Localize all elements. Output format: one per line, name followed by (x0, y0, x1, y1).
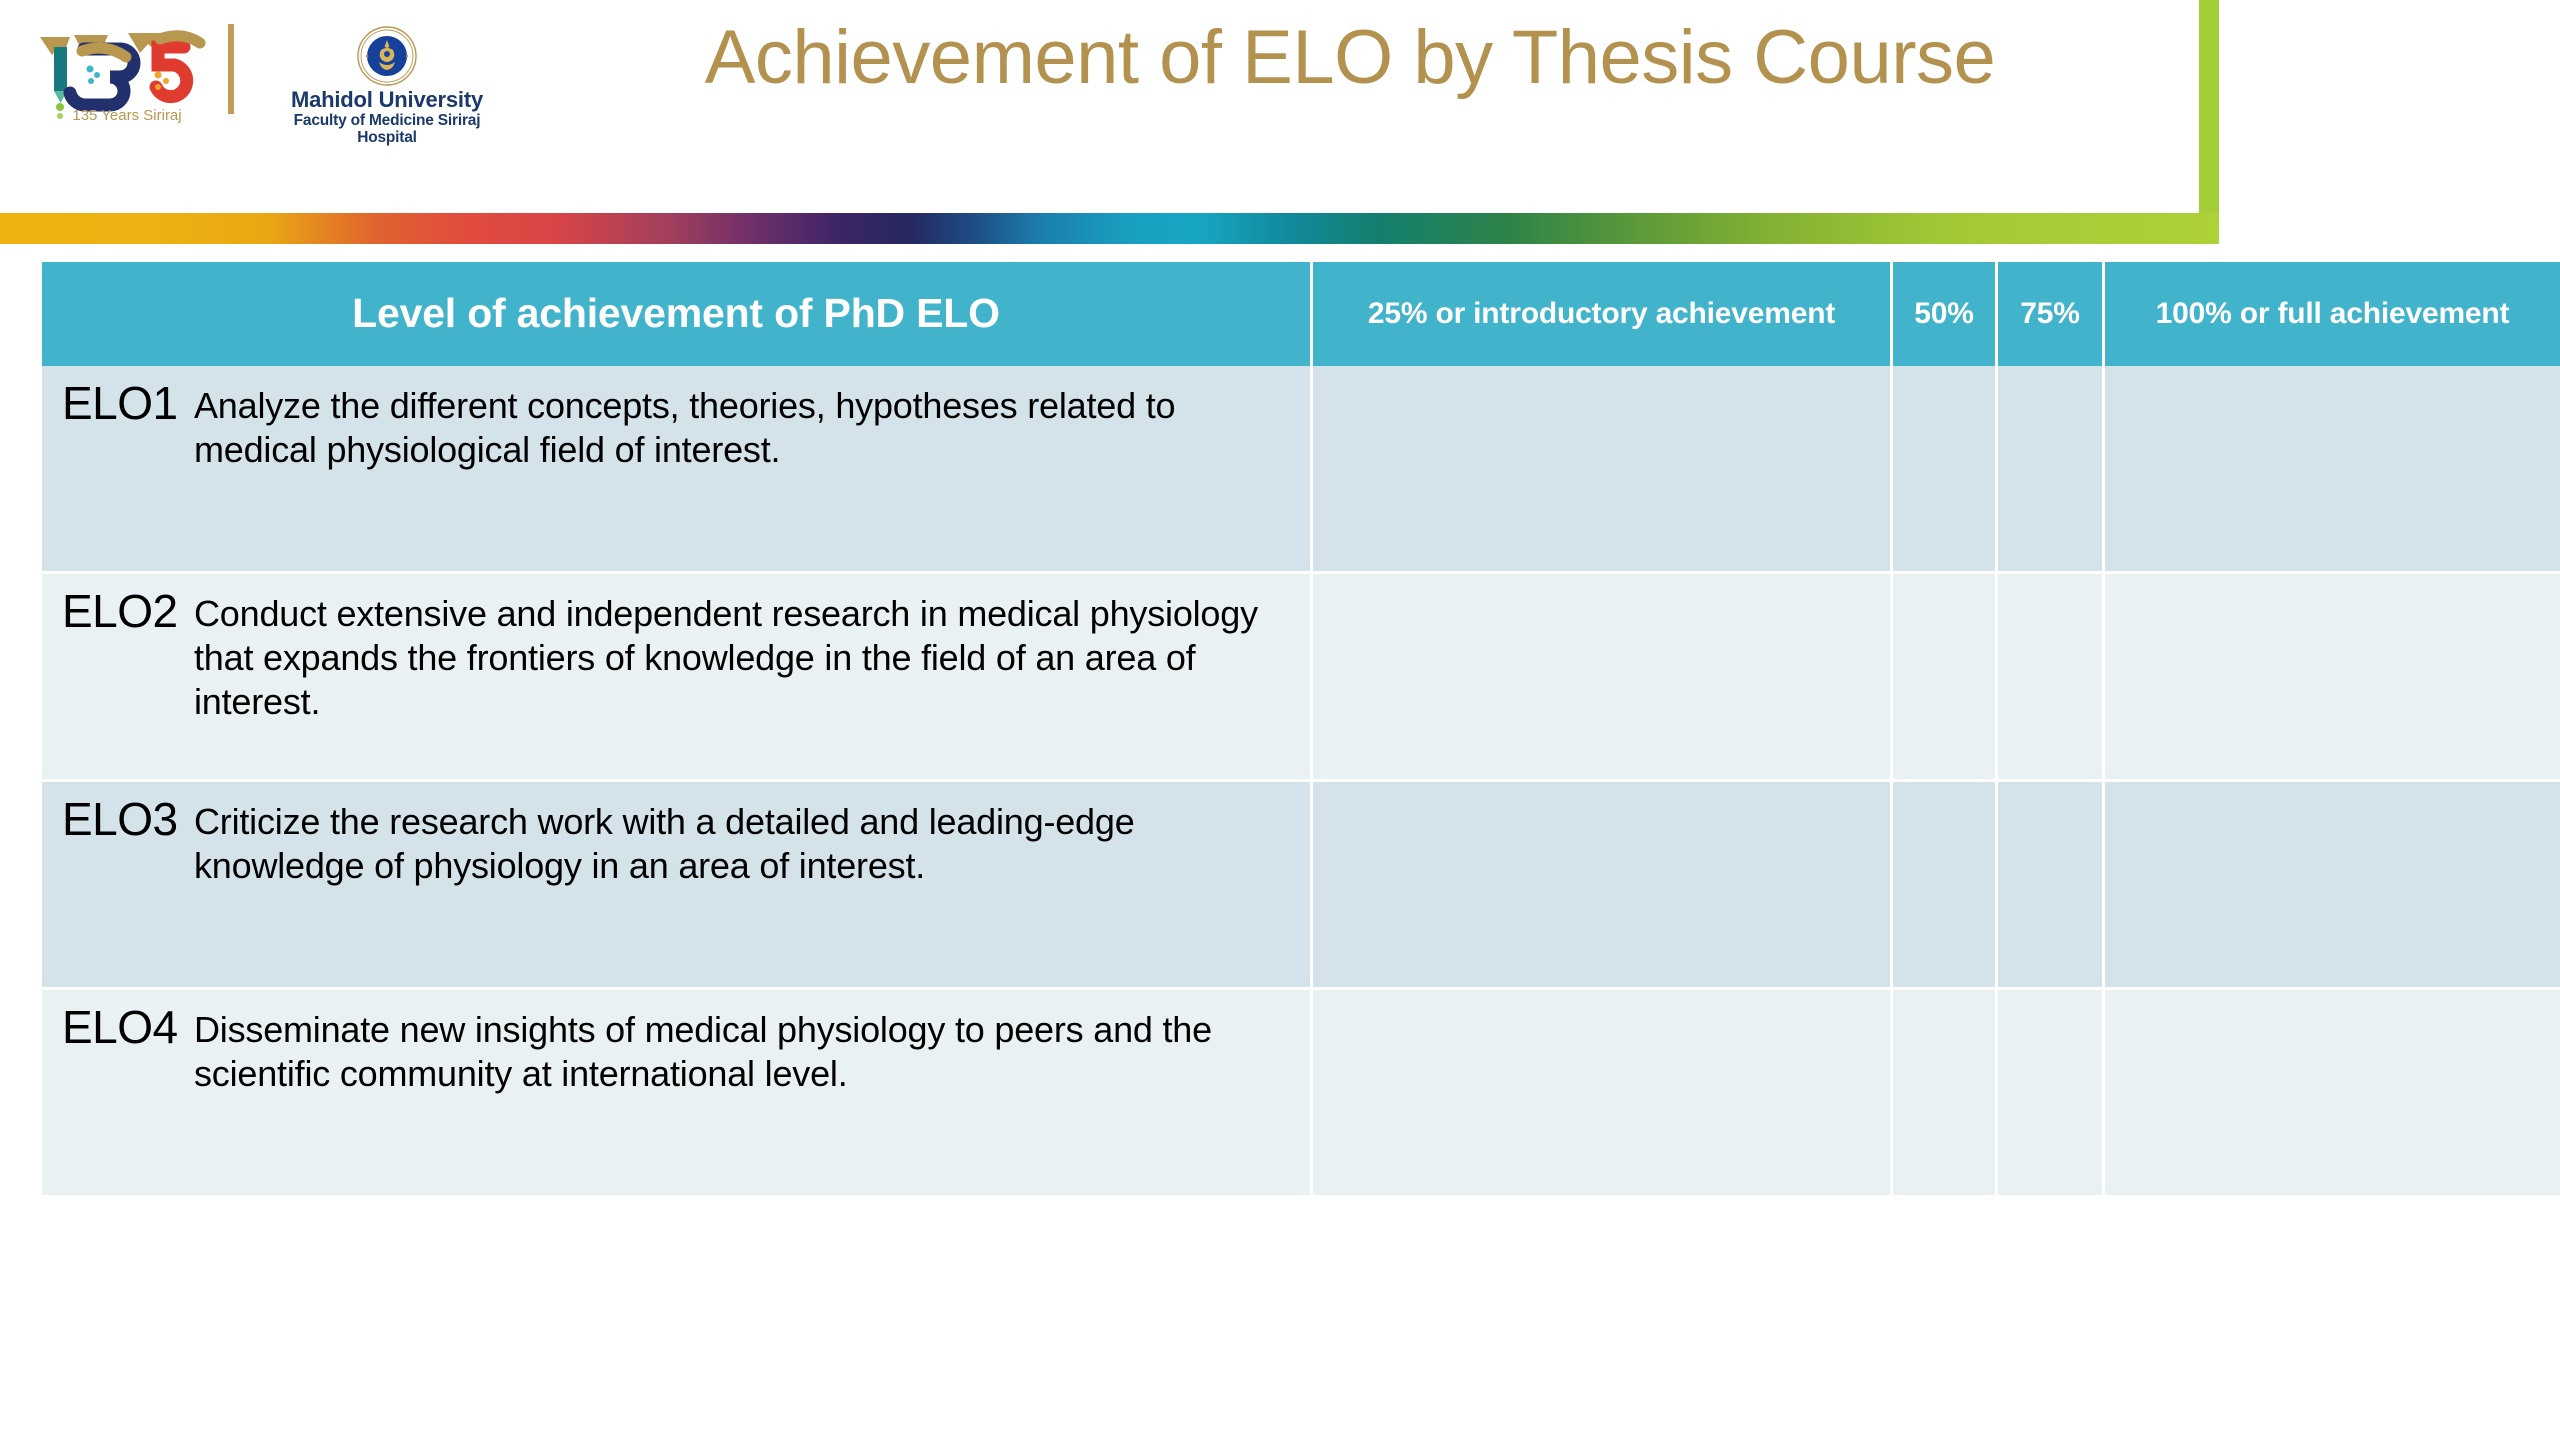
cell-pct25[interactable] (1313, 782, 1893, 990)
elo-code: ELO1 (42, 378, 194, 430)
table-row: ELO4 Disseminate new insights of medical… (42, 990, 2560, 1198)
table-body: ELO1 Analyze the different concepts, the… (42, 366, 2560, 1198)
cell-pct75-value (1998, 366, 2102, 571)
column-header-pct25: 25% or introductory achievement (1313, 262, 1893, 366)
cell-pct25-value (1313, 366, 1890, 571)
cell-pct25-value (1313, 782, 1890, 987)
cell-pct50-value (1893, 990, 1995, 1195)
table-row: ELO1 Analyze the different concepts, the… (42, 366, 2560, 574)
cell-pct25[interactable] (1313, 990, 1893, 1198)
cell-pct75[interactable] (1998, 366, 2105, 574)
cell-pct25[interactable] (1313, 574, 1893, 782)
cell-pct75-value (1998, 990, 2102, 1195)
cell-pct100-value (2105, 990, 2560, 1195)
cell-pct50[interactable] (1893, 366, 1998, 574)
mahidol-university-logo: Mahidol University Faculty of Medicine S… (262, 26, 512, 126)
elo-description-cell: ELO1 Analyze the different concepts, the… (42, 366, 1313, 574)
elo-code: ELO4 (42, 1002, 194, 1054)
cell-pct100-value (2105, 574, 2560, 779)
cell-pct100-value (2105, 366, 2560, 571)
cell-pct75[interactable] (1998, 782, 2105, 990)
cell-pct25[interactable] (1313, 366, 1893, 574)
mahidol-faculty-name: Faculty of Medicine Siriraj Hospital (262, 112, 512, 146)
cell-pct100-value (2105, 782, 2560, 987)
cell-pct100[interactable] (2105, 574, 2560, 782)
elo-description: Criticize the research work with a detai… (194, 794, 1300, 888)
cell-pct50-value (1893, 782, 1995, 987)
vertical-divider-icon (228, 24, 234, 114)
column-header-description: Level of achievement of PhD ELO (42, 262, 1313, 366)
cell-pct25-value (1313, 574, 1890, 779)
elo-description: Disseminate new insights of medical phys… (194, 1002, 1300, 1096)
elo-code: ELO2 (42, 586, 194, 638)
table-row: ELO2 Conduct extensive and independent r… (42, 574, 2560, 782)
cell-pct50[interactable] (1893, 574, 1998, 782)
cell-pct100[interactable] (2105, 782, 2560, 990)
siriraj-135-logo-icon: 135 Years Siriraj (34, 23, 220, 123)
cell-pct75-value (1998, 574, 2102, 779)
cell-pct75-value (1998, 782, 2102, 987)
siriraj-logo-caption: 135 Years Siriraj (72, 107, 181, 123)
cell-pct50-value (1893, 366, 1995, 571)
column-header-pct50: 50% (1893, 262, 1998, 366)
cell-pct50[interactable] (1893, 990, 1998, 1198)
siriraj-135-logo: 135 Years Siriraj (34, 23, 220, 123)
mahidol-seal-icon (357, 26, 417, 86)
cell-pct75[interactable] (1998, 574, 2105, 782)
slide-canvas: 135 Years Siriraj Mahidol University Fac… (0, 0, 2560, 1440)
elo-description-cell: ELO4 Disseminate new insights of medical… (42, 990, 1313, 1198)
elo-description: Conduct extensive and independent resear… (194, 586, 1300, 724)
elo-description-cell: ELO3 Criticize the research work with a … (42, 782, 1313, 990)
table-row: ELO3 Criticize the research work with a … (42, 782, 2560, 990)
column-header-pct75: 75% (1998, 262, 2105, 366)
rainbow-gradient-bar (0, 213, 2219, 244)
table-header-row: Level of achievement of PhD ELO 25% or i… (42, 262, 2560, 366)
elo-code: ELO3 (42, 794, 194, 846)
cell-pct50[interactable] (1893, 782, 1998, 990)
cell-pct75[interactable] (1998, 990, 2105, 1198)
elo-description: Analyze the different concepts, theories… (194, 378, 1300, 472)
cell-pct50-value (1893, 574, 1995, 779)
elo-description-cell: ELO2 Conduct extensive and independent r… (42, 574, 1313, 782)
table-header: Level of achievement of PhD ELO 25% or i… (42, 262, 2560, 366)
elo-achievement-table: Level of achievement of PhD ELO 25% or i… (42, 262, 2560, 1198)
cell-pct100[interactable] (2105, 990, 2560, 1198)
mahidol-university-name: Mahidol University (262, 88, 512, 111)
cell-pct25-value (1313, 990, 1890, 1195)
column-header-pct100: 100% or full achievement (2105, 262, 2560, 366)
cell-pct100[interactable] (2105, 366, 2560, 574)
page-title: Achievement of ELO by Thesis Course (520, 14, 2180, 134)
